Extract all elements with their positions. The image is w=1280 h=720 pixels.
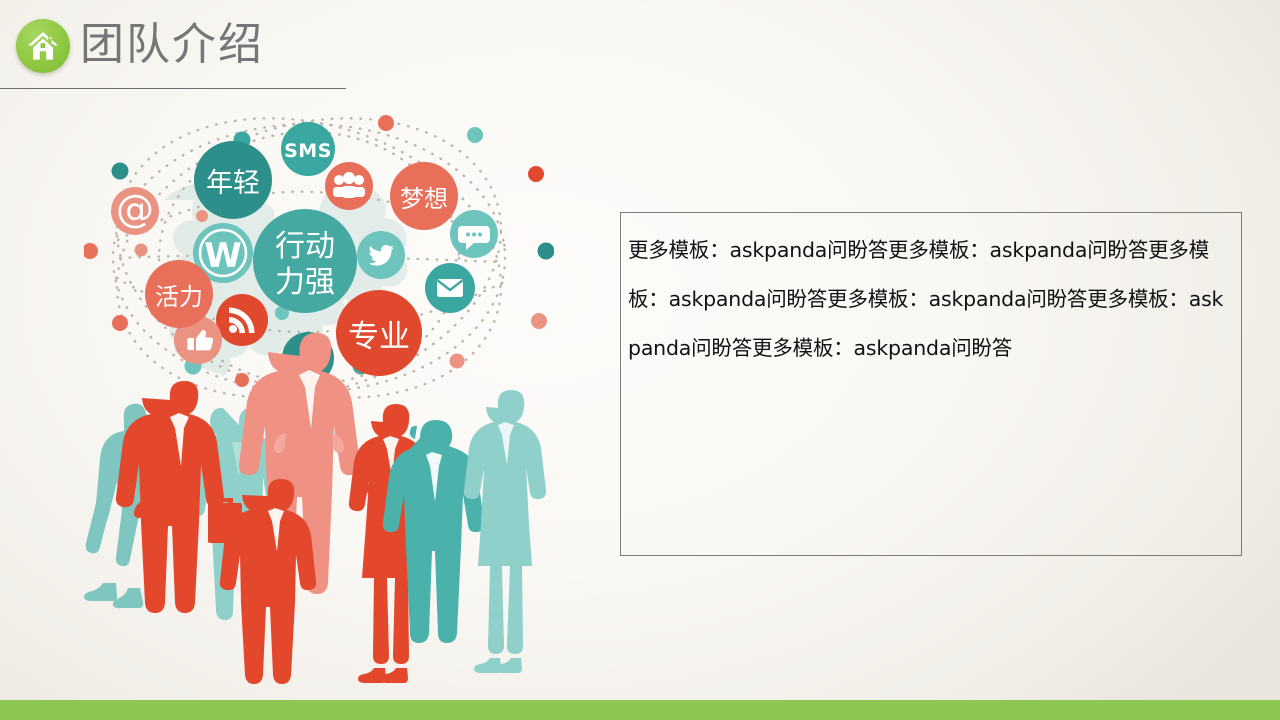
bubble-vitality[interactable]: 活力 [145, 260, 213, 328]
home-icon[interactable] [16, 19, 70, 73]
slide-canvas: 团队介绍 [0, 0, 1280, 720]
bubble-dream-label: 梦想 [400, 185, 448, 213]
bubble-professional[interactable]: 专业 [336, 290, 422, 376]
bubble-proactive[interactable]: 行动 力强 [253, 209, 357, 313]
svg-text:SMS: SMS [284, 140, 332, 162]
bubble-proactive-label-line1: 行动 [275, 229, 335, 264]
content-text: 更多模板：askpanda问盼答更多模板：askpanda问盼答更多模板：ask… [628, 226, 1236, 373]
home-icon-glyph [27, 31, 59, 61]
envelope-icon[interactable] [425, 263, 475, 313]
bubble-young-label: 年轻 [206, 168, 260, 199]
title-divider [0, 88, 346, 89]
team-infographic: SMS @ W [84, 108, 554, 688]
sms-icon[interactable]: SMS [281, 122, 335, 176]
people-silhouettes [84, 333, 546, 684]
footer-accent-bar [0, 700, 1280, 720]
content-text-box[interactable]: 更多模板：askpanda问盼答更多模板：askpanda问盼答更多模板：ask… [620, 212, 1242, 556]
bubble-vitality-label: 活力 [155, 283, 203, 311]
group-people-icon[interactable] [325, 162, 373, 210]
bubble-proactive-label-line2: 力强 [275, 265, 335, 300]
infographic-svg: SMS @ W [84, 108, 554, 688]
svg-text:W: W [204, 236, 242, 276]
chat-bubble-icon[interactable] [450, 210, 498, 258]
bubble-professional-label: 专业 [348, 319, 410, 355]
page-title: 团队介绍 [80, 16, 264, 74]
bubble-dream[interactable]: 梦想 [390, 162, 458, 230]
at-sign-icon[interactable]: @ [111, 187, 159, 235]
twitter-bird-icon[interactable] [357, 231, 405, 279]
svg-text:@: @ [116, 187, 154, 231]
slide-header: 团队介绍 [0, 0, 1280, 100]
bubble-young[interactable]: 年轻 [194, 141, 272, 219]
rss-icon[interactable] [216, 294, 268, 346]
